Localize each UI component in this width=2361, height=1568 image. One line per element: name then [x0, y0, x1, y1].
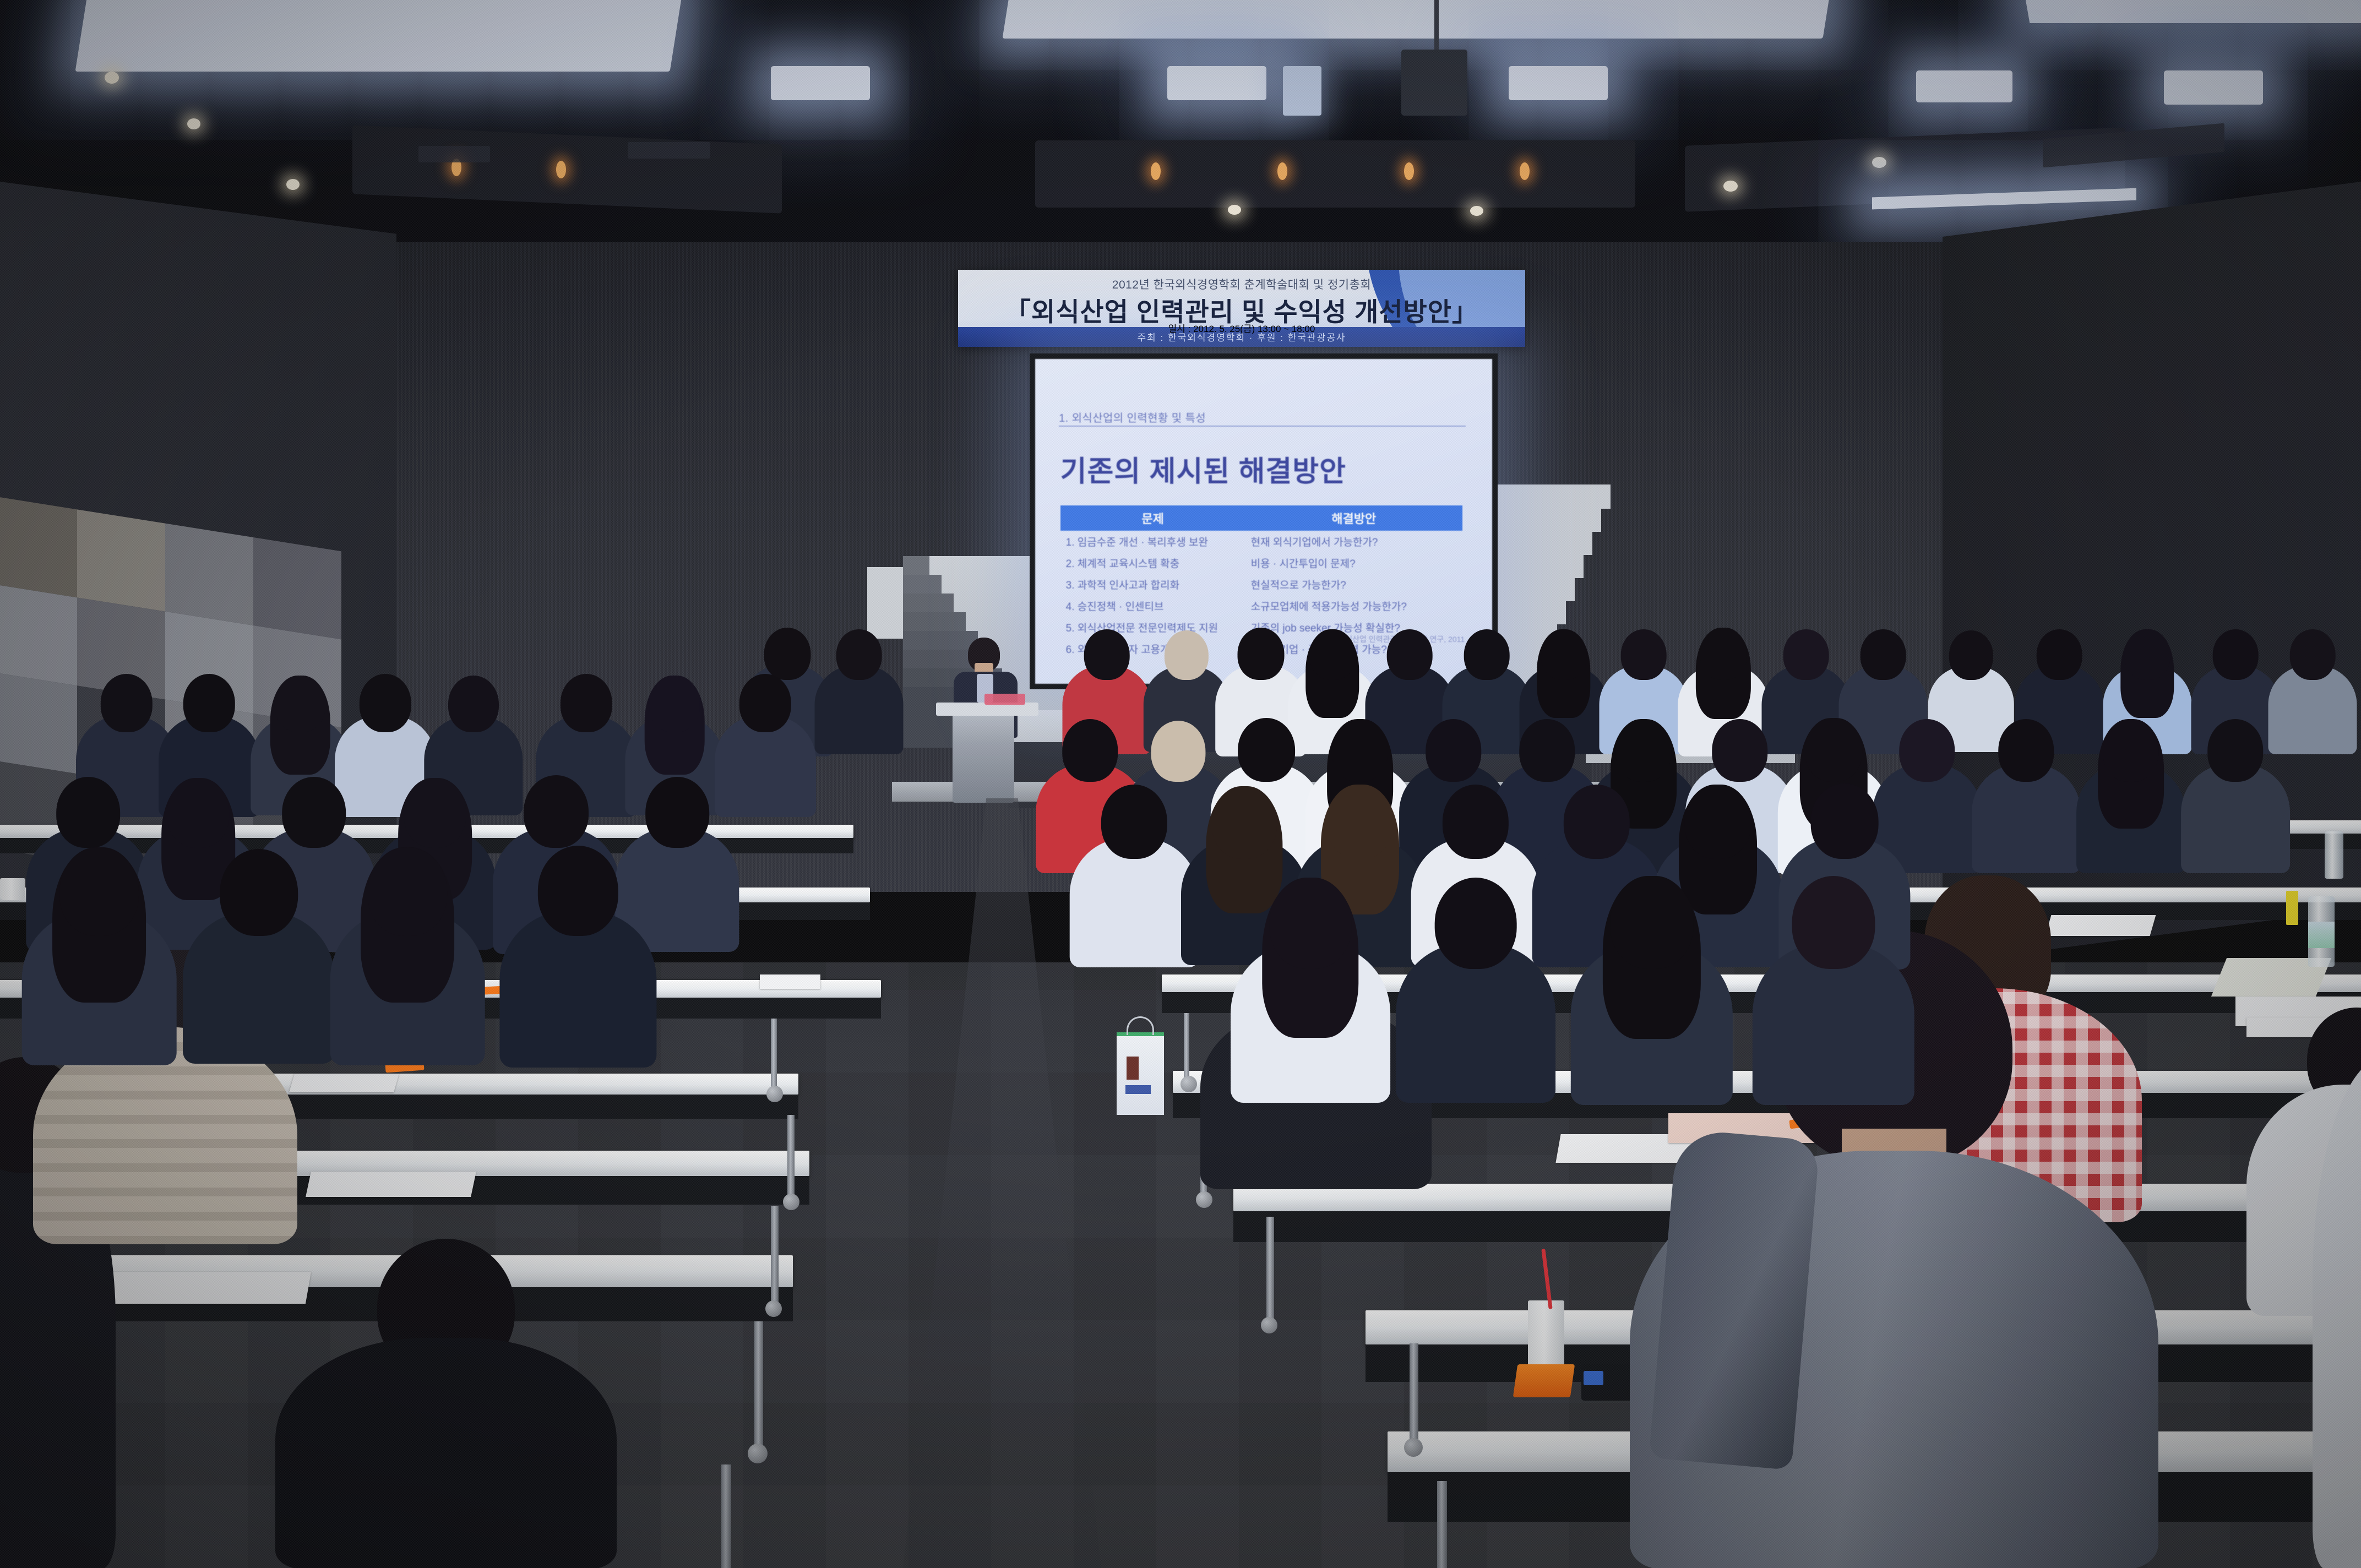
table-caster [1196, 1191, 1212, 1208]
ceiling-downlight [105, 72, 119, 84]
audience-member-head [1464, 629, 1510, 680]
table-leg [1184, 1013, 1189, 1079]
slide-table-header-cell: 해결방안 [1245, 505, 1462, 531]
banner-subtitle: 2012년 한국외식경영학회 춘계학술대회 및 정기총회 [958, 276, 1525, 292]
ceiling-downlight [1872, 157, 1886, 168]
shopping-bag [1117, 1032, 1164, 1115]
audience-member-head [1332, 719, 1388, 782]
audience-member-head [836, 629, 882, 680]
audience-member-head [1443, 785, 1509, 859]
audience-member-head [1151, 721, 1205, 782]
audience-member-head [1610, 876, 1693, 969]
audience-member-head [1165, 630, 1209, 680]
audience-member-head [645, 777, 709, 848]
table-leg [1410, 1343, 1418, 1442]
ceiling-vent [418, 146, 490, 162]
table-leg [1437, 1481, 1447, 1568]
audience-member-head [2213, 629, 2259, 680]
audience-member-head [1811, 783, 1879, 859]
audience-member-head [1426, 719, 1481, 782]
audience-member-head [739, 674, 791, 732]
audience-member-head [282, 777, 346, 848]
audience-member-head [183, 674, 235, 732]
audience-member-head [1700, 628, 1747, 680]
document-paper [306, 1172, 476, 1197]
audience-member [1396, 878, 1555, 1129]
ceiling-downlight [556, 161, 566, 178]
slide-table-row: 3. 과학적 인사고과 합리화 현실적으로 가능한가? [1060, 574, 1462, 595]
ceiling-downlight [1277, 162, 1287, 180]
ceiling-light-panel [1002, 0, 1833, 39]
table-caster [783, 1194, 799, 1210]
audience-member [1070, 785, 1199, 988]
audience-member-head [1519, 719, 1575, 782]
audience-member-head [1783, 629, 1829, 680]
snack-package [1513, 1364, 1575, 1397]
audience-member-head [1949, 630, 1993, 680]
bag-logo-mark [1127, 1057, 1139, 1080]
audience-member-head [2290, 629, 2336, 680]
audience-member-head [1615, 719, 1671, 782]
audience-member [1972, 719, 2081, 890]
audience-member-head [538, 846, 618, 936]
audience-member-head [1998, 719, 2054, 782]
audience-member-head [649, 676, 700, 732]
slide-table-header-cell: 문제 [1060, 505, 1245, 531]
podium-paper [984, 694, 1025, 705]
audience-member-head [1621, 629, 1667, 680]
audience-member-head [1805, 718, 1862, 782]
audience-member-head [524, 775, 589, 848]
slide-cell-solution: 현재 외식기업에서 가능한가? [1245, 531, 1462, 552]
ceiling-light-panel [1916, 70, 2012, 102]
slide-cell-problem: 1. 임금수준 개선 · 복리후생 보완 [1060, 531, 1245, 552]
audience-member-head [1387, 629, 1433, 680]
audience-member [330, 847, 485, 1091]
ceiling [0, 0, 2361, 259]
slide-table-header: 문제 해결방안 [1060, 505, 1462, 531]
podium [953, 710, 1014, 803]
table-leg [771, 1019, 777, 1090]
audience-member-head [1101, 785, 1167, 859]
audience-member-head [59, 847, 139, 936]
table-caster [1180, 1076, 1197, 1092]
ceiling-light-panel [75, 0, 685, 72]
slide-cell-problem: 2. 체계적 교육시스템 확충 [1060, 552, 1245, 574]
audience-member [22, 847, 177, 1091]
audience-member [2076, 719, 2185, 890]
audience-member [499, 846, 656, 1093]
audience-member-head [404, 778, 466, 848]
ceiling-downlight [1228, 205, 1241, 215]
ceiling-light-panel [2023, 0, 2361, 23]
ceiling-light-panel [771, 66, 870, 100]
audience-member-head [1084, 629, 1130, 680]
audience-member-head [2125, 629, 2170, 680]
audience-member [1231, 878, 1390, 1129]
audience-member-head [167, 778, 229, 848]
ceiling-downlight [187, 118, 200, 129]
ceiling-light-panel [1509, 66, 1608, 100]
water-bottle [2325, 831, 2343, 879]
audience-member-head [1238, 628, 1285, 680]
document-paper [760, 974, 820, 989]
audience-member [2181, 719, 2290, 890]
audience-member [1571, 876, 1733, 1131]
slide-table-row: 1. 임금수준 개선 · 복리후생 보완 현재 외식기업에서 가능한가? [1060, 531, 1462, 552]
ceiling-projector [1401, 50, 1467, 116]
slide-kicker: 1. 외식산업의 인력현황 및 특성 [1059, 409, 1206, 425]
bag-logo-text [1125, 1085, 1151, 1094]
table-leg [787, 1115, 795, 1197]
audience-member-head [220, 849, 298, 936]
audience-member-head [764, 628, 811, 680]
audience-member-head [1541, 629, 1587, 680]
audience-member-head [56, 777, 120, 848]
table-leg [754, 1321, 763, 1448]
ceiling-downlight [1520, 162, 1530, 180]
ceiling-downlight [1723, 181, 1738, 192]
iced-coffee-cup [1528, 1300, 1564, 1372]
audience-member-head [448, 676, 499, 732]
audience-member [815, 629, 904, 769]
audience-member [1753, 876, 1914, 1131]
audience-member-head [368, 847, 447, 936]
slide-cell-problem: 3. 과학적 인사고과 합리화 [1060, 574, 1245, 595]
grey-suit-man-arm [1649, 1129, 1820, 1470]
audience-member-head [1212, 786, 1277, 859]
audience-member-head [1712, 719, 1767, 782]
audience-member-head [1062, 719, 1118, 782]
table-caster [1404, 1438, 1423, 1457]
audience-member-head [1860, 629, 1906, 680]
event-banner: 2012년 한국외식경영학회 춘계학술대회 및 정기총회 「외식산업 인력관리 … [958, 270, 1525, 347]
audience-member-head [1792, 876, 1875, 969]
audience-member-head [101, 674, 153, 732]
audience-member-right-edge [2313, 1024, 2361, 1568]
ceiling-light-panel [2164, 70, 2263, 105]
audience-member-head [1238, 718, 1295, 782]
table-caster [748, 1444, 768, 1463]
water-bottle [2308, 896, 2335, 967]
ceiling-downlight [1404, 162, 1414, 180]
audience-member-head [1685, 785, 1751, 859]
table-leg [1266, 1217, 1274, 1321]
slide-table-row: 4. 승진정책 · 인센티브 소규모업체에 적용가능성 가능한가? [1060, 595, 1462, 617]
wallet-card [1584, 1371, 1603, 1385]
table-leg [721, 1464, 731, 1568]
audience-member-head [2103, 719, 2158, 782]
slide-cell-solution: 비용 · 시간투입이 문제? [1245, 552, 1462, 574]
ceiling-downlight [1151, 162, 1161, 180]
slide-cell-solution: 소규모업체에 적용가능성 가능한가? [1245, 595, 1462, 617]
ceiling-downlight [286, 179, 300, 190]
banner-organizer: 주최 : 한국외식경영학회 · 후원 : 한국관광공사 [958, 330, 1525, 344]
audience-member-foreground-left-dark [275, 1239, 617, 1568]
audience-member-head [1564, 785, 1630, 859]
slide-cell-solution: 현실적으로 가능한가? [1245, 574, 1462, 595]
ceiling-light-panel [1283, 66, 1321, 116]
highlighter-pen [2286, 891, 2298, 925]
audience-member-head [360, 674, 411, 732]
slide-table-row: 2. 체계적 교육시스템 확충 비용 · 시간투입이 문제? [1060, 552, 1462, 574]
audience-member-head [1310, 629, 1356, 680]
bottle-label [2308, 922, 2335, 948]
audience-member-head [2037, 629, 2082, 680]
ceiling-vent [628, 142, 710, 159]
ceiling-downlight [1470, 206, 1483, 216]
slide-divider [1059, 426, 1466, 427]
audience-member-head [1435, 878, 1517, 969]
table-caster [766, 1086, 783, 1102]
audience-member-head [1327, 785, 1393, 859]
slide-title: 기존의 제시된 해결방안 [1060, 448, 1346, 489]
ceiling-bulkhead [1035, 140, 1635, 208]
conference-hall-photo: 2012년 한국외식경영학회 춘계학술대회 및 정기총회 「외식산업 인력관리 … [0, 0, 2361, 1568]
table-caster [765, 1300, 782, 1317]
audience-member-head [275, 676, 325, 732]
audience-member-head [2207, 719, 2263, 782]
audience-member [183, 849, 335, 1088]
ceiling-light-panel [1167, 66, 1266, 100]
table-leg [771, 1206, 779, 1305]
audience-member-head [1270, 878, 1352, 969]
audience-member-head [561, 674, 612, 732]
slide-cell-problem: 4. 승진정책 · 인센티브 [1060, 595, 1245, 617]
audience-member-head [1899, 719, 1955, 782]
table-caster [1261, 1317, 1277, 1333]
